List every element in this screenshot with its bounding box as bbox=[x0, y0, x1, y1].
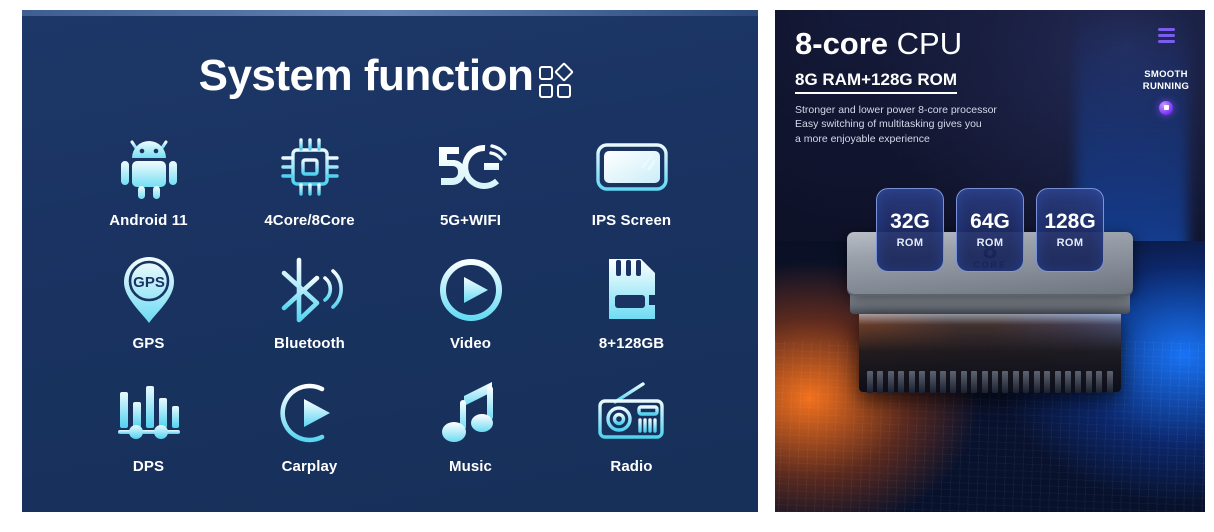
feature-item-video[interactable]: Video bbox=[390, 251, 551, 352]
feature-item-ips-screen[interactable]: IPS Screen bbox=[551, 128, 712, 229]
sd-memory-card-icon bbox=[589, 251, 675, 329]
storage-type: ROM bbox=[977, 237, 1004, 249]
video-play-circle-icon bbox=[428, 251, 514, 329]
feature-item-radio[interactable]: Radio bbox=[551, 374, 712, 475]
feature-grid: Android 11 bbox=[68, 128, 712, 475]
radio-receiver-icon bbox=[589, 374, 675, 452]
storage-capacity: 32G bbox=[890, 211, 930, 232]
smooth-running-line2: RUNNING bbox=[1137, 81, 1195, 93]
5g-wifi-signal-icon bbox=[428, 128, 514, 206]
chip-edge bbox=[850, 294, 1130, 314]
feature-label: Music bbox=[449, 458, 492, 475]
side-rail: SMOOTH RUNNING bbox=[1137, 28, 1195, 115]
hamburger-menu-icon[interactable] bbox=[1137, 28, 1195, 43]
chip-pins bbox=[867, 371, 1113, 393]
storage-option-128g[interactable]: 128G ROM bbox=[1036, 188, 1104, 272]
feature-label: Video bbox=[450, 335, 491, 352]
cpu-chip-icon bbox=[267, 128, 353, 206]
svg-text:GPS: GPS bbox=[133, 274, 165, 291]
chip-substrate bbox=[859, 314, 1121, 392]
smooth-running-note: SMOOTH RUNNING bbox=[1137, 69, 1195, 93]
feature-label: Bluetooth bbox=[274, 335, 345, 352]
panel-top-highlight bbox=[22, 10, 758, 16]
cpu-description: Stronger and lower power 8-core processo… bbox=[795, 103, 997, 148]
ips-screen-icon bbox=[589, 128, 675, 206]
cpu-headline-rest: CPU bbox=[888, 26, 962, 61]
feature-label: 8+128GB bbox=[599, 335, 664, 352]
storage-type: ROM bbox=[897, 237, 924, 249]
feature-label: Radio bbox=[610, 458, 652, 475]
panel-title-row: System function bbox=[22, 54, 758, 98]
feature-label: IPS Screen bbox=[592, 212, 671, 229]
four-tiles-grid-icon bbox=[539, 58, 581, 98]
cpu-description-line: a more enjoyable experience bbox=[795, 132, 997, 147]
feature-label: DPS bbox=[133, 458, 164, 475]
storage-capacity: 64G bbox=[970, 211, 1010, 232]
cpu-hero-panel: 8 CORE 32G ROM 64G ROM bbox=[775, 10, 1205, 512]
storage-option-64g[interactable]: 64G ROM bbox=[956, 188, 1024, 272]
feature-item-cores[interactable]: 4Core/8Core bbox=[229, 128, 390, 229]
cpu-subtitle: 8G RAM+128G ROM bbox=[795, 70, 957, 94]
android-robot-icon bbox=[106, 128, 192, 206]
cpu-description-line: Stronger and lower power 8-core processo… bbox=[795, 103, 997, 118]
music-note-icon bbox=[428, 374, 514, 452]
feature-item-5g-wifi[interactable]: 5G+WIFI bbox=[390, 128, 551, 229]
feature-label: Android 11 bbox=[109, 212, 188, 229]
smooth-running-line1: SMOOTH bbox=[1137, 69, 1195, 81]
product-spec-banner: System function bbox=[0, 0, 1214, 532]
gps-map-pin-icon: GPS bbox=[106, 251, 192, 329]
feature-label: 5G+WIFI bbox=[440, 212, 501, 229]
cpu-headline: 8-core CPU bbox=[795, 28, 997, 61]
feature-item-android[interactable]: Android 11 bbox=[68, 128, 229, 229]
storage-options-row: 32G ROM 64G ROM 128G ROM bbox=[876, 188, 1104, 272]
feature-label: GPS bbox=[133, 335, 165, 352]
cpu-description-line: Easy switching of multitasking gives you bbox=[795, 117, 997, 132]
purple-dot-badge-icon bbox=[1159, 101, 1173, 115]
feature-item-gps[interactable]: GPS GPS bbox=[68, 251, 229, 352]
feature-item-dps[interactable]: DPS bbox=[68, 374, 229, 475]
feature-item-music[interactable]: Music bbox=[390, 374, 551, 475]
feature-label: Carplay bbox=[282, 458, 338, 475]
feature-item-storage[interactable]: 8+128GB bbox=[551, 251, 712, 352]
storage-type: ROM bbox=[1057, 237, 1084, 249]
carplay-play-icon bbox=[267, 374, 353, 452]
page-title: System function bbox=[199, 54, 534, 98]
storage-capacity: 128G bbox=[1044, 211, 1095, 232]
equalizer-bars-icon bbox=[106, 374, 192, 452]
system-function-panel: System function bbox=[22, 10, 758, 512]
cpu-headline-block: 8-core CPU 8G RAM+128G ROM Stronger and … bbox=[795, 28, 997, 147]
bluetooth-icon bbox=[267, 251, 353, 329]
storage-option-32g[interactable]: 32G ROM bbox=[876, 188, 944, 272]
cpu-headline-strong: 8-core bbox=[795, 26, 888, 61]
feature-item-carplay[interactable]: Carplay bbox=[229, 374, 390, 475]
feature-item-bluetooth[interactable]: Bluetooth bbox=[229, 251, 390, 352]
feature-label: 4Core/8Core bbox=[264, 212, 354, 229]
